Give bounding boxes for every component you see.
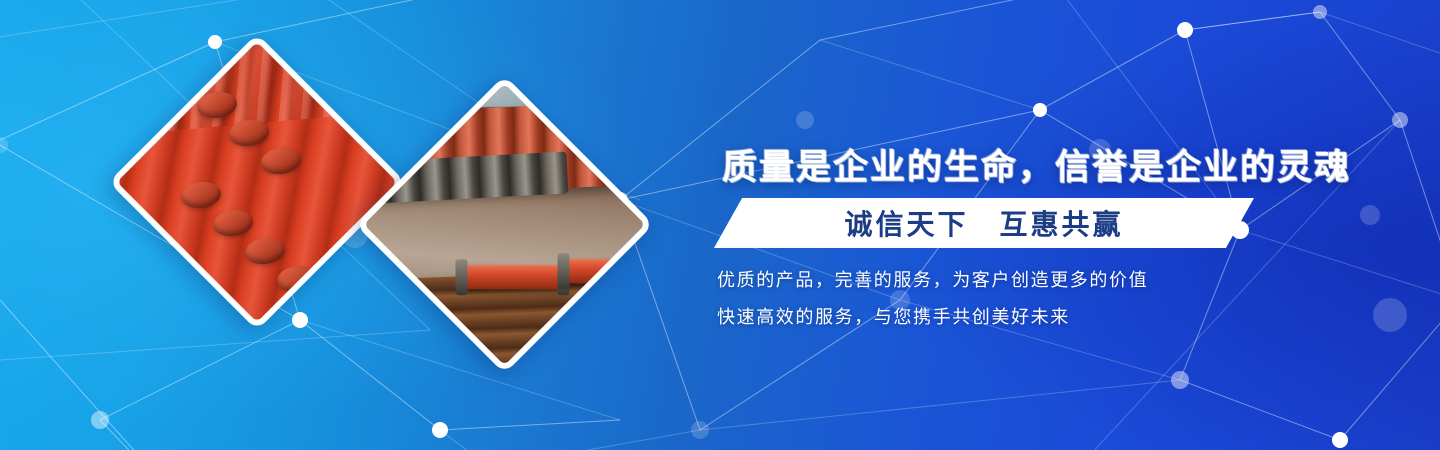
- coupling-unit: [465, 265, 561, 289]
- banner-subtitle-line-1: 优质的产品，完善的服务，为客户创造更多的价值: [717, 266, 1148, 292]
- slogan-text: 诚信天下 互惠共赢: [714, 198, 1254, 248]
- promo-banner: 质量是企业的生命，信誉是企业的灵魂 诚信天下 互惠共赢 优质的产品，完善的服务，…: [0, 0, 1440, 450]
- slogan-bar: 诚信天下 互惠共赢: [714, 198, 1254, 248]
- banner-headline: 质量是企业的生命，信誉是企业的灵魂: [722, 139, 1351, 190]
- banner-subtitle-line-2: 快速高效的服务，与您携手共创美好未来: [717, 303, 1070, 329]
